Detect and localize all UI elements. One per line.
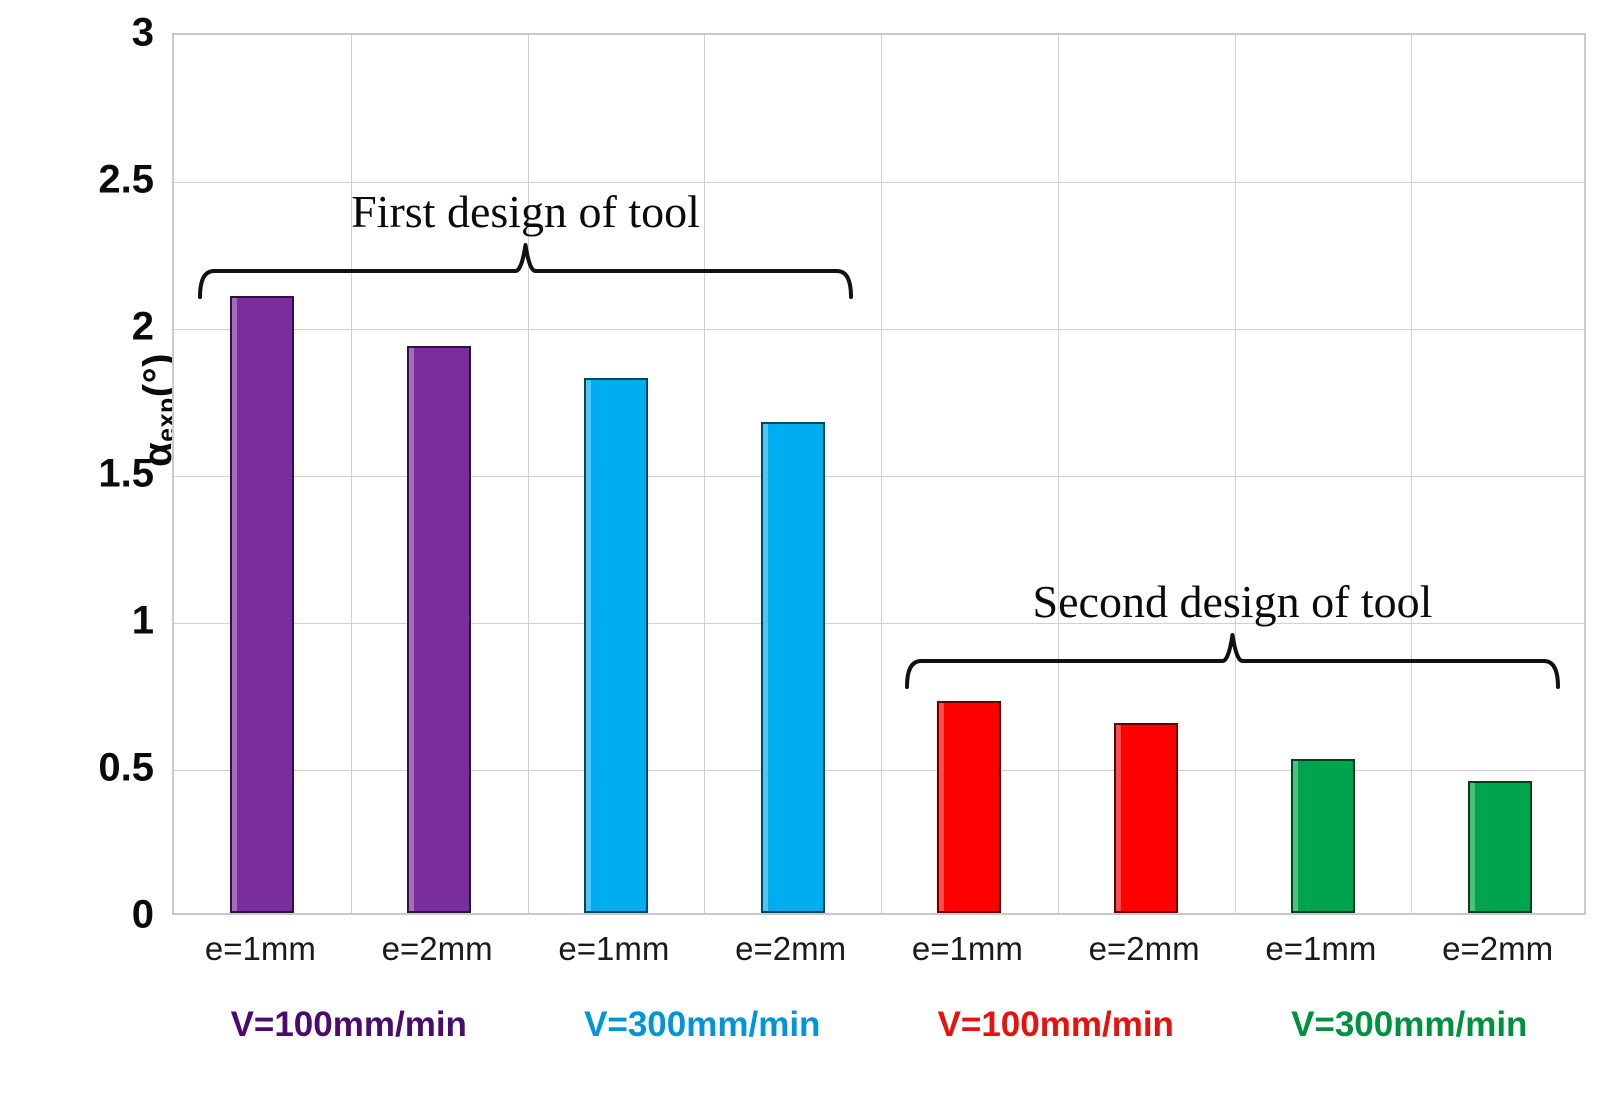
plot-area	[172, 33, 1586, 915]
y-axis-tick-label: 1	[22, 599, 172, 644]
y-axis-tick-label: 2.5	[22, 158, 172, 203]
vertical-gridline	[1235, 35, 1236, 913]
bar	[1114, 723, 1178, 913]
bar	[407, 346, 471, 913]
bar-chart-figure: αexp (°) 00.511.522.53 First design of t…	[0, 0, 1614, 1098]
y-axis-tick-label: 3	[22, 11, 172, 56]
horizontal-gridline	[174, 182, 1584, 183]
horizontal-gridline	[174, 770, 1584, 771]
vertical-gridline	[704, 35, 705, 913]
x-axis-tick-label: e=2mm	[382, 930, 493, 968]
bar	[937, 701, 1001, 913]
bar	[584, 378, 648, 913]
horizontal-gridline	[174, 329, 1584, 330]
y-axis-tick-label: 2	[22, 305, 172, 350]
x-axis-group-labels: V=100mm/minV=300mm/minV=100mm/minV=300mm…	[172, 1005, 1586, 1065]
x-axis-group-label: V=300mm/min	[1291, 1005, 1527, 1045]
x-axis-tick-label: e=1mm	[558, 930, 669, 968]
bar	[230, 296, 294, 913]
horizontal-gridline	[174, 476, 1584, 477]
vertical-gridline	[528, 35, 529, 913]
x-axis-tick-label: e=2mm	[1442, 930, 1553, 968]
vertical-gridline	[1411, 35, 1412, 913]
bar	[1291, 759, 1355, 913]
brace-label: First design of tool	[200, 185, 851, 238]
x-axis-group-label: V=300mm/min	[584, 1005, 820, 1045]
x-axis-tick-label: e=1mm	[205, 930, 316, 968]
x-axis-tick-label: e=2mm	[1089, 930, 1200, 968]
x-axis-tick-label: e=1mm	[912, 930, 1023, 968]
x-axis-tick-label: e=2mm	[735, 930, 846, 968]
vertical-gridline	[351, 35, 352, 913]
x-axis-tick-label: e=1mm	[1265, 930, 1376, 968]
brace-label: Second design of tool	[907, 575, 1558, 628]
bar	[1468, 781, 1532, 913]
x-axis-group-label: V=100mm/min	[938, 1005, 1174, 1045]
y-axis-tick-label: 0.5	[22, 746, 172, 791]
bar	[761, 422, 825, 913]
x-axis-ticks: e=1mme=2mme=1mme=2mme=1mme=2mme=1mme=2mm	[172, 930, 1586, 990]
y-axis-tick-label: 0	[22, 893, 172, 938]
vertical-gridline	[881, 35, 882, 913]
x-axis-group-label: V=100mm/min	[231, 1005, 467, 1045]
y-axis-tick-label: 1.5	[22, 452, 172, 497]
y-axis-ticks: 00.511.522.53	[0, 0, 172, 1098]
vertical-gridline	[1058, 35, 1059, 913]
